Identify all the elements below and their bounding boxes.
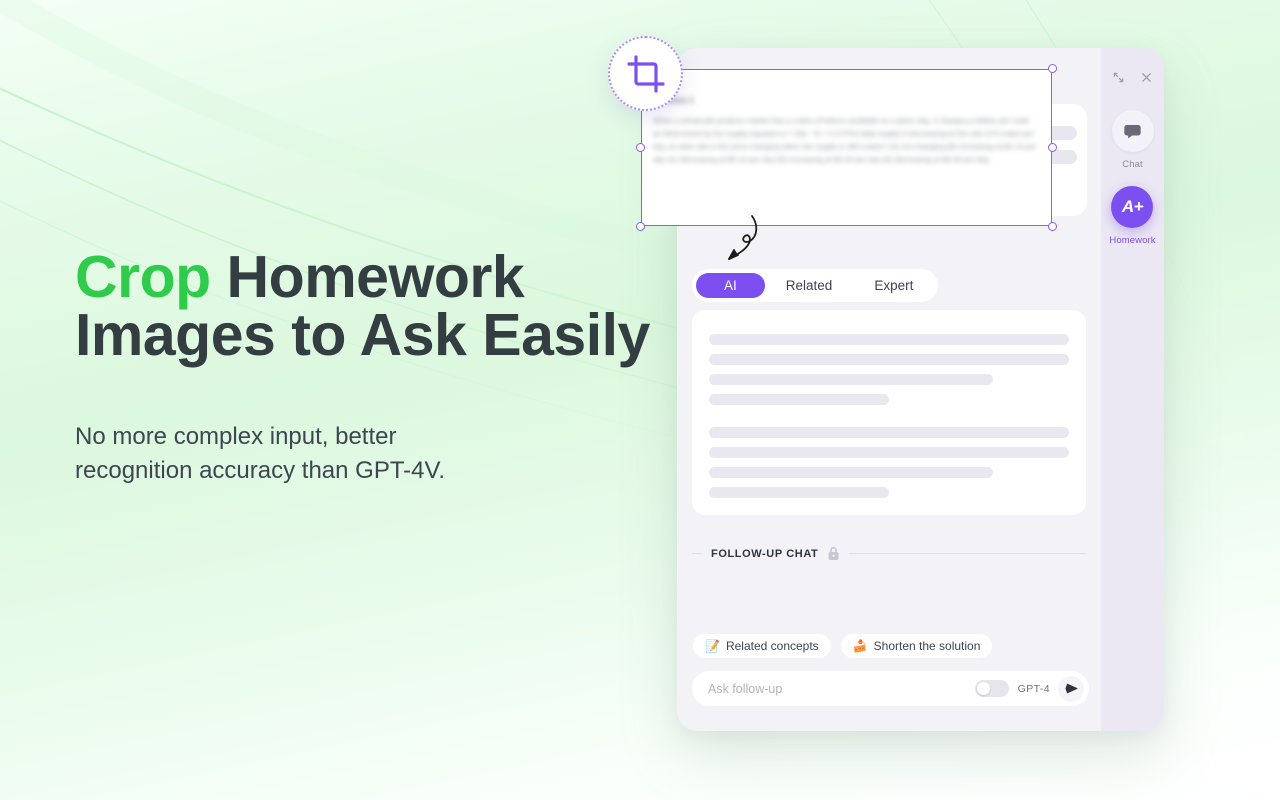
- rail-label-homework: Homework: [1109, 235, 1155, 246]
- chat-bubble-icon: [1112, 110, 1154, 152]
- suggestion-chips: 📝 Related concepts 🍰 Shorten the solutio…: [693, 634, 992, 658]
- note-icon: 📝: [705, 640, 720, 652]
- headline-accent-word: Crop: [75, 244, 211, 310]
- model-toggle[interactable]: [975, 680, 1009, 697]
- lock-icon: [827, 546, 840, 561]
- send-button[interactable]: [1058, 676, 1084, 702]
- page-subtitle: No more complex input, better recognitio…: [75, 420, 525, 488]
- skeleton-line: [709, 447, 1069, 458]
- question-card: [677, 104, 1087, 216]
- headline-line-2: Images to Ask Easily: [75, 302, 650, 368]
- subcopy-line-1: No more complex input, better: [75, 423, 396, 450]
- crop-handle-bottom-right[interactable]: [1048, 222, 1057, 231]
- tab-expert[interactable]: Expert: [853, 273, 934, 298]
- crop-icon: [626, 54, 666, 94]
- skeleton-line: [709, 334, 1069, 345]
- crop-handle-middle-right[interactable]: [1048, 143, 1057, 152]
- rail-item-chat[interactable]: Chat: [1112, 110, 1154, 170]
- chip-shorten-solution[interactable]: 🍰 Shorten the solution: [841, 634, 993, 658]
- app-window: AI Related Expert FOLLOW-UP CHAT: [677, 48, 1164, 731]
- skeleton-line: [709, 374, 993, 385]
- question-skeleton-bar: [685, 174, 995, 188]
- skeleton-line: [709, 354, 1069, 365]
- tab-ai[interactable]: AI: [696, 273, 765, 298]
- toggle-knob: [977, 682, 990, 695]
- expand-icon[interactable]: [1108, 66, 1130, 88]
- question-skeleton-bar: [685, 150, 1077, 164]
- skeleton-line: [709, 467, 993, 478]
- chip-label: Related concepts: [726, 639, 819, 653]
- rail-item-homework[interactable]: A+ Homework: [1109, 186, 1155, 246]
- chip-related-concepts[interactable]: 📝 Related concepts: [693, 634, 831, 658]
- followup-chat-label: FOLLOW-UP CHAT: [711, 548, 818, 560]
- marketing-copy: Crop Homework Images to Ask Easily No mo…: [75, 248, 675, 488]
- a-plus-icon: A+: [1111, 186, 1153, 228]
- divider-right: [849, 553, 1086, 554]
- page-root: Crop Homework Images to Ask Easily No mo…: [0, 0, 1280, 800]
- followup-divider: FOLLOW-UP CHAT: [692, 546, 1086, 561]
- question-skeleton-bar: [685, 126, 1077, 140]
- page-title: Crop Homework Images to Ask Easily: [75, 248, 675, 364]
- skeleton-line: [709, 487, 889, 498]
- skeleton-line: [709, 427, 1069, 438]
- subcopy-line-2: recognition accuracy than GPT-4V.: [75, 457, 445, 484]
- close-icon[interactable]: [1136, 66, 1158, 88]
- rail-window-controls: [1108, 66, 1158, 88]
- divider-left: [692, 553, 702, 554]
- cake-icon: 🍰: [853, 640, 868, 652]
- send-icon: [1065, 682, 1078, 695]
- crop-handle-bottom-left[interactable]: [636, 222, 645, 231]
- skeleton-spacer: [709, 414, 1069, 427]
- tab-related[interactable]: Related: [765, 273, 854, 298]
- headline-rest: Homework: [211, 244, 525, 310]
- answer-skeleton-card: [692, 310, 1086, 515]
- model-label: GPT-4: [1018, 683, 1050, 695]
- rail-label-chat: Chat: [1122, 159, 1142, 170]
- crop-handle-middle-left[interactable]: [636, 143, 645, 152]
- crop-handle-top-right[interactable]: [1048, 64, 1057, 73]
- skeleton-line: [709, 394, 889, 405]
- app-right-rail: Chat A+ Homework: [1101, 48, 1164, 731]
- app-main-panel: AI Related Expert FOLLOW-UP CHAT: [677, 48, 1101, 731]
- crop-tool-badge[interactable]: [608, 36, 683, 111]
- answer-tabs: AI Related Expert: [692, 269, 938, 302]
- followup-input-bar: GPT-4: [692, 671, 1089, 706]
- a-plus-badge: A+: [1122, 197, 1143, 217]
- ask-followup-input[interactable]: [708, 682, 975, 696]
- chip-label: Shorten the solution: [874, 639, 981, 653]
